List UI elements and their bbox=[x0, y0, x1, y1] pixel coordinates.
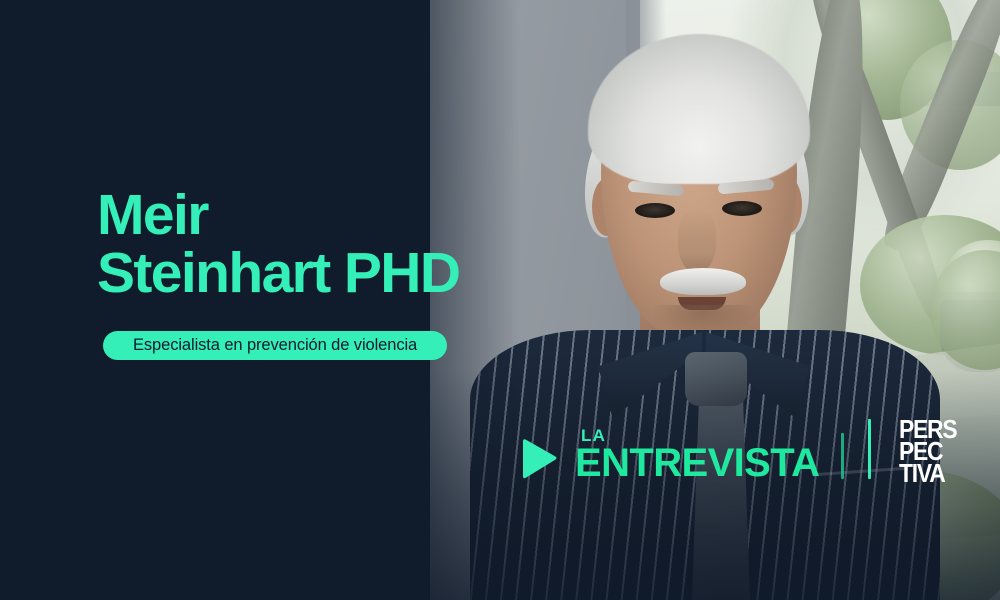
necktie-knot bbox=[685, 352, 747, 406]
show-title: ENTREVISTA bbox=[575, 442, 819, 484]
speaker-name-block: Meir Steinhart PHD bbox=[97, 186, 717, 302]
divider-bar-1 bbox=[841, 433, 844, 479]
credential-badge-label: Especialista en prevención de violencia bbox=[133, 336, 417, 355]
perspectiva-brand-logo: PERS PEC TIVA bbox=[899, 418, 964, 484]
show-title-block: LA ENTREVISTA bbox=[575, 427, 819, 484]
divider-bar-2 bbox=[868, 419, 871, 479]
eye bbox=[722, 201, 762, 216]
interview-title-card: Meir Steinhart PHD Especialista en preve… bbox=[0, 0, 1000, 600]
speaker-name-line-2: Steinhart PHD bbox=[97, 244, 717, 302]
speaker-name-line-1: Meir bbox=[97, 186, 717, 244]
play-triangle-icon bbox=[519, 438, 559, 480]
white-hair bbox=[588, 34, 810, 184]
show-logo-lockup: LA ENTREVISTA PERS PEC TIVA bbox=[519, 418, 965, 484]
credential-badge: Especialista en prevención de violencia bbox=[103, 331, 447, 360]
brand-logo-line-3: TIVA bbox=[899, 462, 944, 484]
